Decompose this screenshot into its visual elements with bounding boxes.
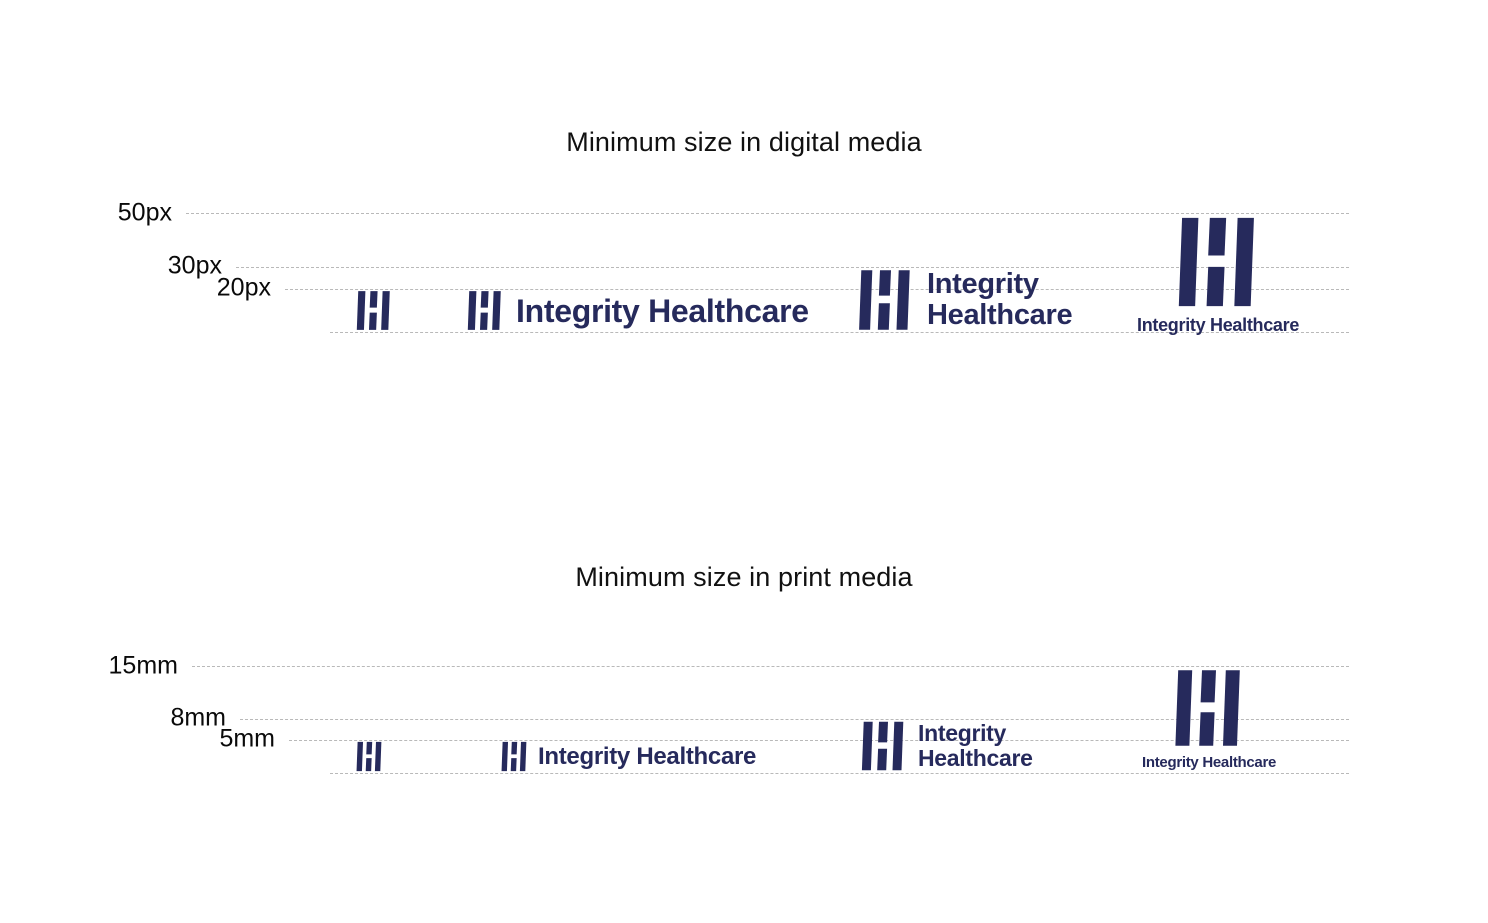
- logo-wordmark: Integrity Healthcare: [1142, 755, 1276, 770]
- logo-lockup-horizontal-digital: Integrity Healthcare: [467, 289, 809, 332]
- logo-lockup-horizontal-print: Integrity Healthcare: [501, 740, 756, 773]
- guide-label-5mm: 5mm: [0, 725, 275, 754]
- print-section-title: Minimum size in print media: [0, 562, 1488, 593]
- logo-mark-icon: [1142, 666, 1276, 750]
- logo-wordmark-line1: Integrity: [918, 720, 1006, 746]
- logo-mark-icon: [356, 289, 392, 332]
- digital-section-title: Minimum size in digital media: [0, 127, 1488, 158]
- logo-mark-icon: [861, 719, 906, 773]
- logo-mark-icon: [501, 740, 528, 773]
- logo-wordmark-line2: Healthcare: [918, 745, 1033, 771]
- logo-wordmark: Integrity Healthcare: [1137, 316, 1299, 334]
- logo-wordmark-two-line: IntegrityHealthcare: [918, 721, 1033, 771]
- logo-lockup-vertical-digital: Integrity Healthcare: [1137, 213, 1299, 334]
- logo-mark-icon: [467, 289, 503, 332]
- logo-wordmark: Integrity Healthcare: [538, 745, 756, 769]
- logo-mark-icon: [858, 267, 913, 333]
- logo-wordmark: Integrity Healthcare: [516, 295, 809, 327]
- logo-wordmark-line2: Healthcare: [927, 299, 1072, 331]
- logo-wordmark-two-line: IntegrityHealthcare: [927, 269, 1072, 332]
- guide-label-15mm: 15mm: [0, 652, 178, 681]
- guide-line-baseline-print: [330, 773, 1349, 774]
- logo-mark-icon: [1137, 213, 1299, 311]
- logo-lockup-stacked-print: IntegrityHealthcare: [861, 719, 1033, 773]
- logo-lockup-mark-only-print: [356, 740, 383, 773]
- logo-lockup-stacked-digital: IntegrityHealthcare: [858, 267, 1072, 333]
- logo-lockup-vertical-print: Integrity Healthcare: [1142, 666, 1276, 770]
- logo-wordmark-line1: Integrity: [927, 268, 1039, 300]
- guide-label-50px: 50px: [0, 199, 172, 228]
- logo-lockup-mark-only-digital: [356, 289, 392, 332]
- guide-label-20px: 20px: [0, 274, 271, 303]
- logo-mark-icon: [356, 740, 383, 773]
